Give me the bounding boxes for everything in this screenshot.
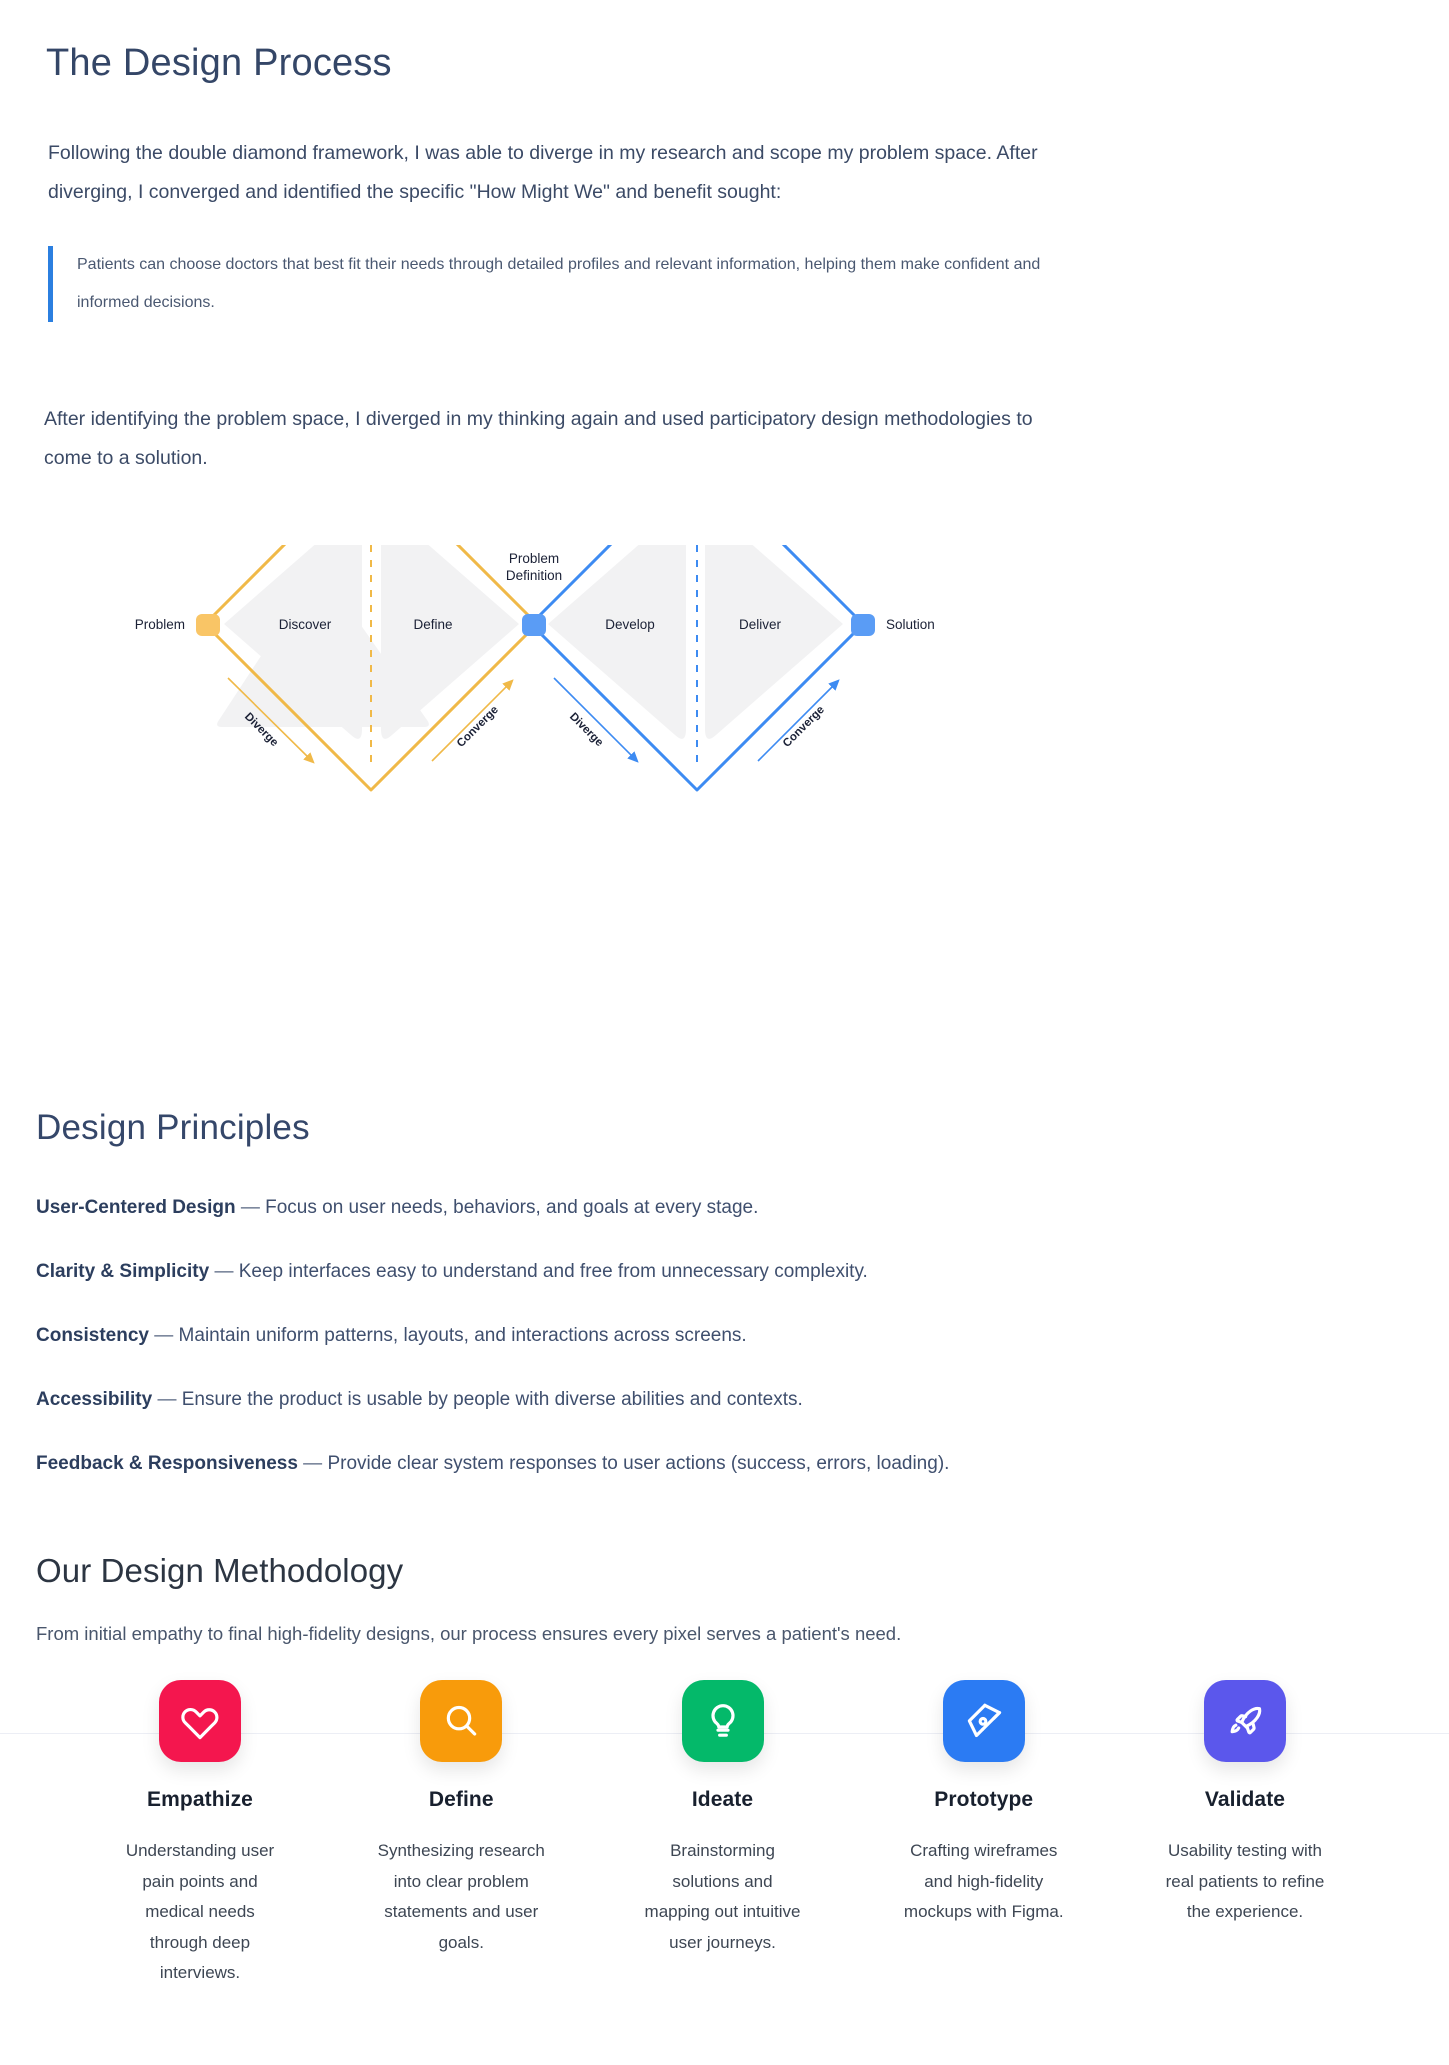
card-title: Empathize <box>147 1788 253 1812</box>
node-problem-label: Problem <box>135 617 185 632</box>
methodology-cards: Empathize Understanding user pain points… <box>85 1680 1360 1989</box>
card-description: Synthesizing research into clear problem… <box>376 1836 546 1958</box>
principle-item: Clarity & Simplicity — Keep interfaces e… <box>36 1260 1356 1284</box>
node-problem <box>196 614 220 636</box>
after-paragraph: After identifying the problem space, I d… <box>44 400 1054 478</box>
principle-desc: Keep interfaces easy to understand and f… <box>239 1261 868 1282</box>
arrow-label-converge-execution: Converge <box>781 704 827 750</box>
heart-icon <box>159 1680 241 1762</box>
node-problem-definition <box>522 614 546 636</box>
principle-item: Consistency — Maintain uniform patterns,… <box>36 1324 1356 1348</box>
arrow-label-diverge-execution: Diverge <box>567 711 605 749</box>
arrow-converge-strategy <box>432 681 512 761</box>
methodology-card-ideate[interactable]: Ideate Brainstorming solutions and mappi… <box>608 1680 838 1958</box>
principle-item: Accessibility — Ensure the product is us… <box>36 1388 1356 1412</box>
methodology-card-empathize[interactable]: Empathize Understanding user pain points… <box>85 1680 315 1989</box>
card-title: Ideate <box>692 1788 753 1812</box>
lightbulb-icon <box>682 1680 764 1762</box>
node-problem-definition-label-line1: Problem <box>509 551 559 566</box>
arrow-converge-execution <box>758 681 838 761</box>
stage-label-develop: Develop <box>605 617 655 632</box>
principle-dash: — <box>209 1261 239 1282</box>
principle-desc: Ensure the product is usable by people w… <box>182 1389 803 1410</box>
search-icon <box>420 1680 502 1762</box>
design-principles-list: User-Centered Design — Focus on user nee… <box>36 1196 1356 1516</box>
principle-dash: — <box>152 1389 182 1410</box>
principle-dash: — <box>236 1197 266 1218</box>
card-title: Prototype <box>934 1788 1033 1812</box>
node-problem-definition-label-line2: Definition <box>506 568 562 583</box>
double-diamond-diagram: Strategy Execution Problem Solution Prob… <box>0 545 1449 935</box>
methodology-subheading: From initial empathy to final high-fidel… <box>36 1620 901 1648</box>
stage-label-discover: Discover <box>279 617 332 632</box>
page-title: The Design Process <box>46 42 392 85</box>
design-principles-heading: Design Principles <box>36 1108 310 1148</box>
arrow-label-converge-strategy: Converge <box>455 704 501 750</box>
intro-paragraph: Following the double diamond framework, … <box>48 134 1058 212</box>
card-title: Validate <box>1205 1788 1285 1812</box>
principle-term: Clarity & Simplicity <box>36 1261 209 1282</box>
rocket-icon <box>1204 1680 1286 1762</box>
hmw-quote-block: Patients can choose doctors that best fi… <box>48 246 1068 322</box>
stage-label-deliver: Deliver <box>739 617 782 632</box>
principle-term: Accessibility <box>36 1389 152 1410</box>
stage-label-define: Define <box>413 617 452 632</box>
principle-term: User-Centered Design <box>36 1197 236 1218</box>
principle-term: Consistency <box>36 1325 149 1346</box>
pen-tool-icon <box>943 1680 1025 1762</box>
methodology-card-prototype[interactable]: Prototype Crafting wireframes and high-f… <box>869 1680 1099 1928</box>
node-solution <box>851 614 875 636</box>
principle-item: User-Centered Design — Focus on user nee… <box>36 1196 1356 1220</box>
card-description: Understanding user pain points and medic… <box>115 1836 285 1989</box>
principle-dash: — <box>298 1453 328 1474</box>
principle-dash: — <box>149 1325 179 1346</box>
card-description: Brainstorming solutions and mapping out … <box>638 1836 808 1958</box>
methodology-heading: Our Design Methodology <box>36 1552 403 1590</box>
principle-item: Feedback & Responsiveness — Provide clea… <box>36 1452 1356 1476</box>
hmw-quote-text: Patients can choose doctors that best fi… <box>77 246 1068 322</box>
card-description: Usability testing with real patients to … <box>1160 1836 1330 1928</box>
principle-desc: Focus on user needs, behaviors, and goal… <box>265 1197 758 1218</box>
node-solution-label: Solution <box>886 617 935 632</box>
methodology-card-define[interactable]: Define Synthesizing research into clear … <box>346 1680 576 1958</box>
design-process-page: The Design Process Following the double … <box>0 0 1449 2065</box>
principle-desc: Maintain uniform patterns, layouts, and … <box>179 1325 747 1346</box>
principle-term: Feedback & Responsiveness <box>36 1453 298 1474</box>
card-description: Crafting wireframes and high-fidelity mo… <box>899 1836 1069 1928</box>
card-title: Define <box>429 1788 494 1812</box>
principle-desc: Provide clear system responses to user a… <box>327 1453 949 1474</box>
methodology-card-validate[interactable]: Validate Usability testing with real pat… <box>1130 1680 1360 1928</box>
